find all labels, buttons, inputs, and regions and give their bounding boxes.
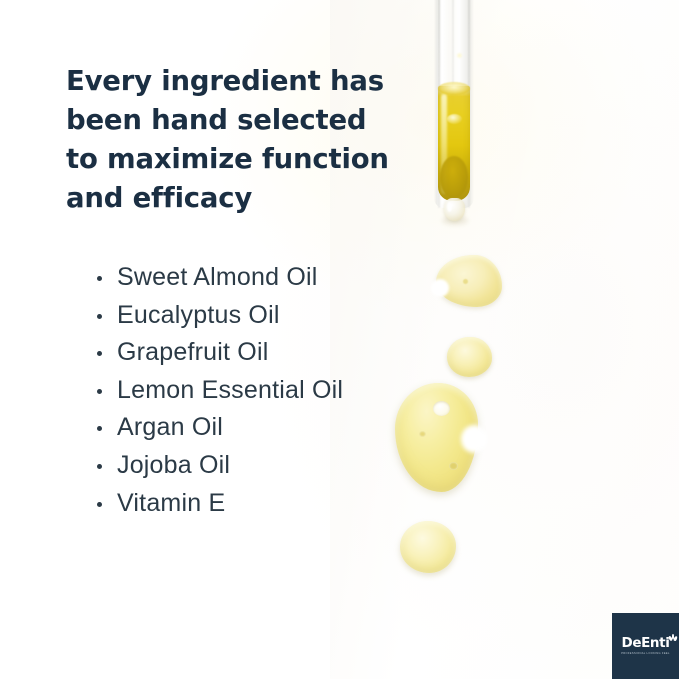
pipette-tip-highlight — [447, 202, 452, 212]
promotional-image: Every ingredient has been hand selected … — [0, 0, 679, 679]
droplet-inner-bubble — [433, 401, 450, 416]
leaf-sprout-icon — [669, 634, 676, 642]
list-item: Vitamin E — [96, 485, 396, 523]
droplet-body — [447, 337, 492, 377]
list-item: Sweet Almond Oil — [96, 259, 396, 297]
headline: Every ingredient has been hand selected … — [66, 62, 396, 218]
droplet-waist-indent — [461, 425, 487, 453]
oil-droplet-round-icon — [400, 521, 456, 573]
pipette-air-bubble — [447, 114, 462, 124]
droplet-notch — [431, 279, 449, 297]
list-item: Argan Oil — [96, 409, 396, 447]
glass-dropper-pipette-icon — [428, 0, 490, 240]
brand-logo-badge: DeEnti PROFESSIONAL LOOKING FEEL — [612, 613, 679, 679]
droplet-speck — [463, 279, 468, 284]
list-item: Eucalyptus Oil — [96, 297, 396, 335]
pipette-oil-meniscus — [438, 82, 470, 95]
list-item: Lemon Essential Oil — [96, 372, 396, 410]
droplet-micro-bubble-b — [449, 462, 458, 470]
pipette-oil-pool — [440, 156, 468, 198]
ingredient-list: Sweet Almond Oil Eucalyptus Oil Grapefru… — [96, 259, 396, 522]
oil-droplet-large-icon — [395, 383, 478, 492]
droplet-micro-bubble-a — [419, 431, 426, 437]
logo-wordmark: DeEnti — [622, 637, 670, 651]
oil-droplet-small-icon — [447, 337, 492, 377]
oil-droplet-blob-icon — [436, 255, 502, 307]
pipette-glass-glint — [456, 52, 463, 59]
droplet-body — [400, 521, 456, 573]
list-item: Grapefruit Oil — [96, 334, 396, 372]
logo-tagline: PROFESSIONAL LOOKING FEEL — [621, 652, 670, 655]
list-item: Jojoba Oil — [96, 447, 396, 485]
